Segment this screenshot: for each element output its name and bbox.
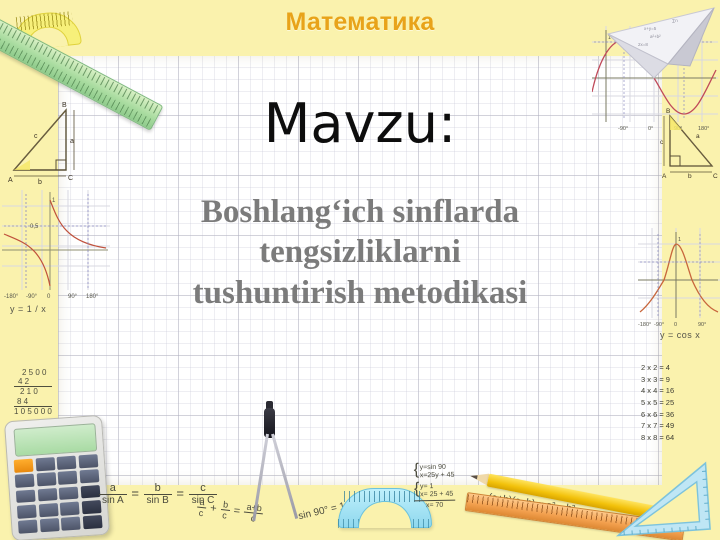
- graph-hyperbola: -180°-90°0 90°180° 10,5 y = 1 / x: [2, 186, 110, 304]
- lawsines-fraction-2: b sin B: [144, 482, 172, 506]
- svg-text:c: c: [660, 139, 664, 146]
- long-multiplication-scribble: 2 5 0 0 4 2 2 1 0 8 4 1 0 5 0 0 0: [14, 368, 52, 416]
- svg-text:a²+b²: a²+b²: [650, 34, 661, 39]
- multab-row-1: 2 x 2 = 4: [641, 362, 674, 374]
- triangle-right-diagram: B A C c a b: [658, 100, 720, 182]
- lawsines-eq-1: =: [131, 485, 139, 500]
- fracsum-den-1: c: [196, 508, 206, 519]
- svg-text:-180°: -180°: [638, 322, 651, 328]
- presentation-slide: Математика Mavzu: Boshlang‘ich sinflarda…: [0, 0, 720, 540]
- svg-text:C: C: [68, 175, 73, 182]
- svg-text:C: C: [713, 173, 718, 180]
- svg-text:0: 0: [674, 322, 677, 328]
- svg-text:x+y=5: x+y=5: [644, 26, 657, 31]
- fracsum-fraction-2: b c: [220, 499, 231, 521]
- svg-text:90°: 90°: [68, 294, 78, 300]
- svg-text:b: b: [38, 179, 42, 186]
- svg-text:90°: 90°: [698, 322, 706, 328]
- lawsines-num-2: b: [144, 482, 172, 495]
- longmul-partial-1: 2 1 0: [14, 386, 52, 396]
- system-answer: x= 70: [414, 500, 455, 511]
- system-eq-4: x= 25 + 45: [420, 491, 455, 500]
- longmul-operand-1: 2 5 0 0: [14, 368, 52, 377]
- lawsines-den-2: sin B: [144, 495, 172, 506]
- svg-text:A: A: [8, 177, 13, 184]
- paper-airplane-icon: x+y=5a²+b² 2x=8∑n: [598, 4, 718, 82]
- multab-row-7: 8 x 8 = 64: [641, 432, 674, 444]
- svg-text:0,5: 0,5: [30, 224, 39, 230]
- triangle-ruler-icon: [609, 458, 720, 540]
- fracsum-num-1: a: [197, 497, 207, 509]
- svg-text:-90°: -90°: [618, 126, 628, 132]
- lawsines-den-1: sin A: [99, 495, 127, 506]
- svg-text:0°: 0°: [648, 126, 653, 132]
- multab-row-6: 7 x 7 = 49: [641, 420, 674, 432]
- svg-text:∑n: ∑n: [672, 18, 678, 23]
- multab-row-5: 6 x 6 = 36: [641, 409, 674, 421]
- topic-line-2: tengsizliklarni: [96, 232, 624, 272]
- svg-text:B: B: [62, 102, 67, 109]
- svg-text:a: a: [696, 133, 700, 140]
- lawsines-eq-2: =: [176, 485, 184, 500]
- triangle-left-diagram: A B C c a b: [4, 98, 88, 186]
- topic-line-1: Boshlang‘ich sinflarda: [96, 192, 624, 232]
- fracsum-eq: =: [233, 505, 241, 518]
- longmul-operand-2: 4 2: [14, 377, 52, 386]
- lawsines-fraction-1: a sin A: [99, 482, 127, 506]
- fracsum-num-2: b: [221, 499, 231, 511]
- system-group-2: y= 1 x= 25 + 45: [414, 483, 455, 500]
- graph-cosine-label: y = cos x: [660, 330, 700, 340]
- lawsines-num-1: a: [99, 482, 127, 495]
- compass-icon: [246, 408, 302, 520]
- system-eq-2: x=25y + 45: [420, 472, 455, 481]
- svg-text:-90°: -90°: [26, 294, 38, 300]
- lawsines-num-3: c: [189, 482, 218, 495]
- graph-cosine: -180°-90° 090° 1 y = cos x: [638, 228, 720, 332]
- longmul-partial-2: 8 4: [14, 397, 52, 406]
- calculator-graphic: [4, 415, 110, 540]
- svg-text:b: b: [688, 173, 692, 180]
- multab-row-2: 3 x 3 = 9: [641, 374, 674, 386]
- fracsum-fraction-1: a c: [196, 497, 207, 519]
- multab-row-3: 4 x 4 = 16: [641, 385, 674, 397]
- system-of-equations-scribble: y=sin 90 x=25y + 45 y= 1 x= 25 + 45 x= 7…: [414, 464, 455, 511]
- fracsum-den-2: c: [220, 510, 230, 521]
- calculator-screen: [13, 423, 97, 457]
- svg-text:A: A: [662, 173, 667, 180]
- svg-text:B: B: [666, 108, 670, 115]
- svg-text:180°: 180°: [86, 294, 99, 300]
- graph-hyperbola-label: y = 1 / x: [10, 304, 46, 314]
- system-group-1: y=sin 90 x=25y + 45: [414, 464, 455, 481]
- topic-text: Boshlang‘ich sinflarda tengsizliklarni t…: [96, 192, 624, 313]
- svg-text:1: 1: [52, 198, 56, 204]
- longmul-result: 1 0 5 0 0 0: [14, 406, 52, 416]
- topic-line-3: tushuntirish metodikasi: [96, 273, 624, 313]
- svg-text:-180°: -180°: [4, 294, 19, 300]
- svg-text:a: a: [70, 138, 74, 145]
- svg-text:-90°: -90°: [654, 322, 664, 328]
- fracsum-plus: +: [210, 502, 218, 515]
- svg-text:0: 0: [47, 294, 51, 300]
- multab-row-4: 5 x 5 = 25: [641, 397, 674, 409]
- multiplication-table-scribble: 2 x 2 = 4 3 x 3 = 9 4 x 4 = 16 5 x 5 = 2…: [641, 362, 674, 443]
- calculator-keys: [14, 454, 103, 534]
- svg-text:1: 1: [678, 237, 681, 243]
- svg-text:c: c: [34, 133, 38, 140]
- svg-text:2x=8: 2x=8: [638, 42, 648, 47]
